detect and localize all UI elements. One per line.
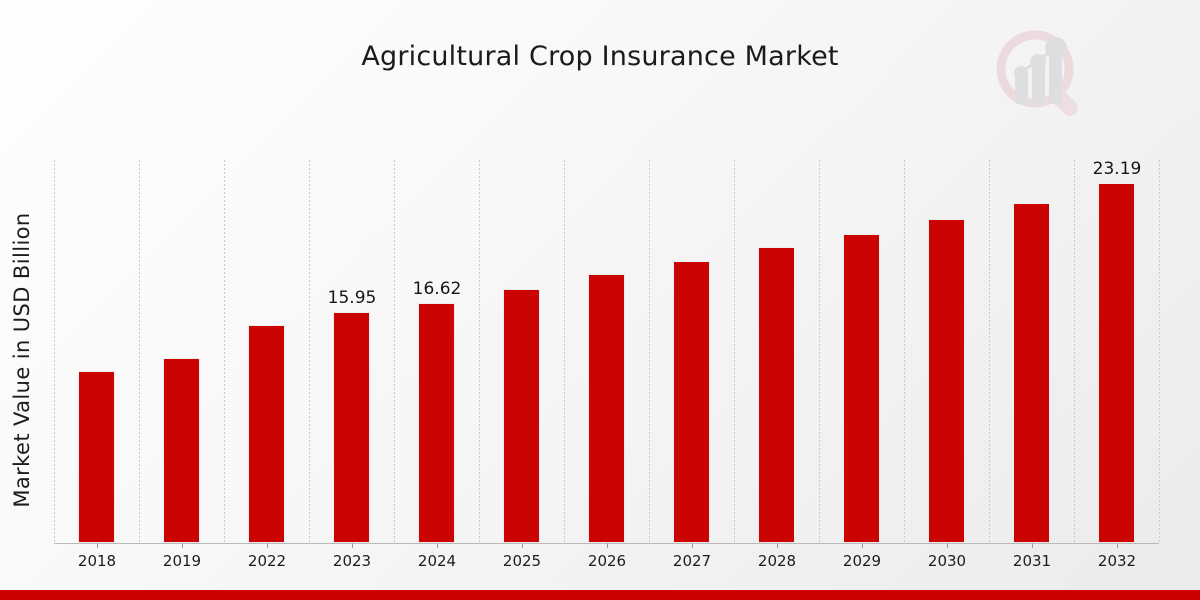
x-tick-label-2026: 2026 (562, 552, 652, 570)
gridline (479, 160, 480, 543)
bar-2018[interactable] (78, 371, 115, 543)
chart-page: Agricultural Crop Insurance Market Marke… (0, 0, 1200, 600)
x-tick-label-2029: 2029 (817, 552, 907, 570)
y-axis-title: Market Value in USD Billion (10, 150, 34, 570)
x-tick-label-2022: 2022 (222, 552, 312, 570)
x-axis-tick (1032, 543, 1033, 548)
x-axis-tick (352, 543, 353, 548)
x-tick-label-2028: 2028 (732, 552, 822, 570)
x-axis-tick (947, 543, 948, 548)
bar-2019[interactable] (163, 358, 200, 543)
gridline (649, 160, 650, 543)
bar-2024[interactable] (418, 303, 455, 543)
bottom-accent-strip (0, 590, 1200, 600)
gridline (564, 160, 565, 543)
x-axis-tick (267, 543, 268, 548)
bar-2031[interactable] (1013, 203, 1050, 543)
x-axis-tick (1117, 543, 1118, 548)
plot-area: 20182019202215.95202316.6220242025202620… (54, 160, 1159, 543)
gridline (394, 160, 395, 543)
gridline (139, 160, 140, 543)
gridline (904, 160, 905, 543)
bar-2028[interactable] (758, 247, 795, 543)
bar-2023[interactable] (333, 312, 370, 543)
bar-2025[interactable] (503, 289, 540, 543)
bar-value-label-2024: 16.62 (392, 279, 482, 299)
x-tick-label-2030: 2030 (902, 552, 992, 570)
gridline (819, 160, 820, 543)
bar-value-label-2023: 15.95 (307, 288, 397, 308)
gridline (54, 160, 55, 543)
x-tick-label-2023: 2023 (307, 552, 397, 570)
gridline (1159, 160, 1160, 543)
x-axis-tick (607, 543, 608, 548)
x-axis-tick (522, 543, 523, 548)
x-tick-label-2031: 2031 (987, 552, 1077, 570)
x-axis-tick (777, 543, 778, 548)
x-axis-tick (182, 543, 183, 548)
x-axis-tick (862, 543, 863, 548)
bar-2026[interactable] (588, 274, 625, 543)
x-tick-label-2025: 2025 (477, 552, 567, 570)
bar-2030[interactable] (928, 219, 965, 543)
bar-value-label-2032: 23.19 (1072, 159, 1162, 179)
x-tick-label-2027: 2027 (647, 552, 737, 570)
bar-2032[interactable] (1098, 183, 1135, 543)
bar-2029[interactable] (843, 234, 880, 543)
bar-2022[interactable] (248, 325, 285, 543)
bar-2027[interactable] (673, 261, 710, 543)
x-axis-tick (692, 543, 693, 548)
magnifier-bar-chart-logo-icon (985, 22, 1090, 127)
gridline (224, 160, 225, 543)
x-tick-label-2018: 2018 (52, 552, 142, 570)
gridline (1074, 160, 1075, 543)
gridline (309, 160, 310, 543)
x-tick-label-2024: 2024 (392, 552, 482, 570)
x-axis-tick (437, 543, 438, 548)
x-tick-label-2032: 2032 (1072, 552, 1162, 570)
gridline (989, 160, 990, 543)
gridline (734, 160, 735, 543)
x-tick-label-2019: 2019 (137, 552, 227, 570)
x-axis-tick (97, 543, 98, 548)
